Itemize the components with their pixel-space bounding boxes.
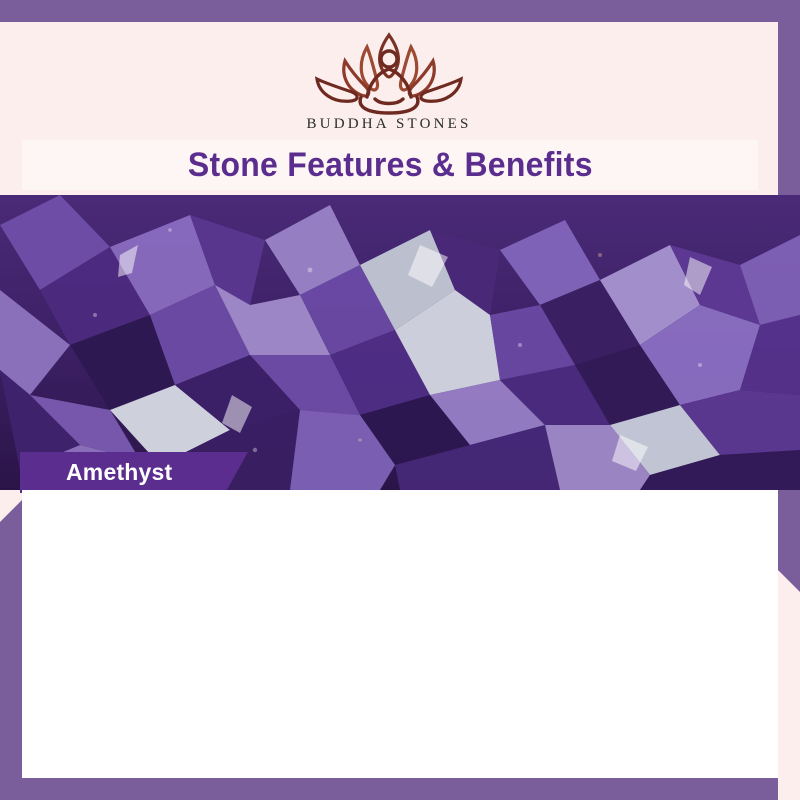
frame-left-bar (0, 500, 22, 800)
frame-top-bar (0, 0, 778, 22)
content-panel: ★ Increases nobility ★ Spiritual awarene… (22, 490, 778, 778)
amethyst-hero-image (0, 195, 800, 490)
brand-name: BUDDHA STONES (306, 116, 471, 133)
frame-bottom-bar (0, 778, 778, 800)
page-title: Stone Features & Benefits (188, 146, 593, 185)
stone-name-badge: Amethyst (20, 452, 248, 493)
title-band: Stone Features & Benefits (22, 140, 758, 190)
product-info-poster: BUDDHA STONES Stone Features & Benefits (0, 0, 800, 800)
lotus-meditation-figure-icon (289, 28, 489, 114)
stone-name-label: Amethyst (66, 459, 172, 486)
